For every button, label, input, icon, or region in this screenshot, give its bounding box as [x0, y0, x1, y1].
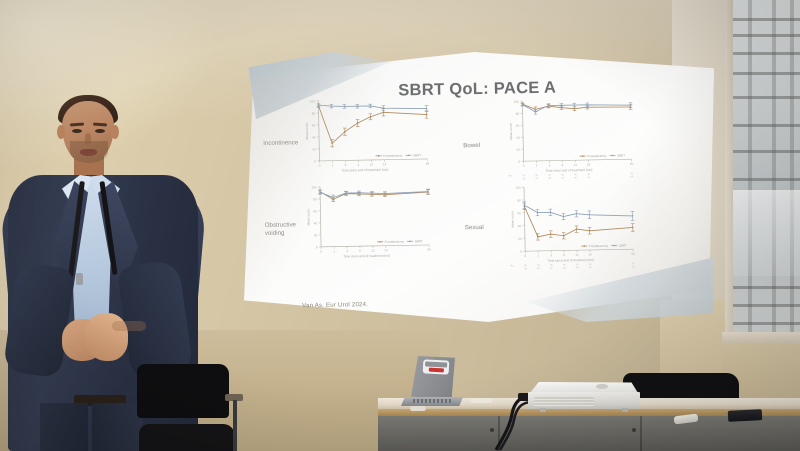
projection-screen: SBRT QoL: PACE A Incontinence Bowel Obst…	[244, 52, 714, 322]
laptop[interactable]	[401, 356, 463, 408]
eye-left	[72, 129, 82, 133]
eye-right	[95, 129, 105, 133]
ear-left	[57, 125, 65, 139]
screen-glare-overlay	[244, 52, 714, 322]
nose	[85, 133, 91, 145]
clasped-hands	[62, 313, 130, 367]
conference-room-scene: SBRT QoL: PACE A Incontinence Bowel Obst…	[0, 0, 800, 451]
desk-white-pad	[470, 398, 492, 403]
chair-left	[133, 364, 243, 451]
projector-lens	[596, 384, 608, 389]
projector	[528, 382, 640, 412]
ear-right	[111, 125, 119, 139]
trouser-leg-left	[40, 403, 88, 451]
mouth	[80, 149, 97, 156]
laptop-keys[interactable]	[413, 399, 451, 403]
hand-right	[84, 313, 128, 361]
laptop-sticker	[423, 359, 450, 374]
window	[730, 0, 800, 340]
mobile-phone[interactable]	[728, 409, 763, 422]
lanyard-clip	[76, 273, 83, 285]
